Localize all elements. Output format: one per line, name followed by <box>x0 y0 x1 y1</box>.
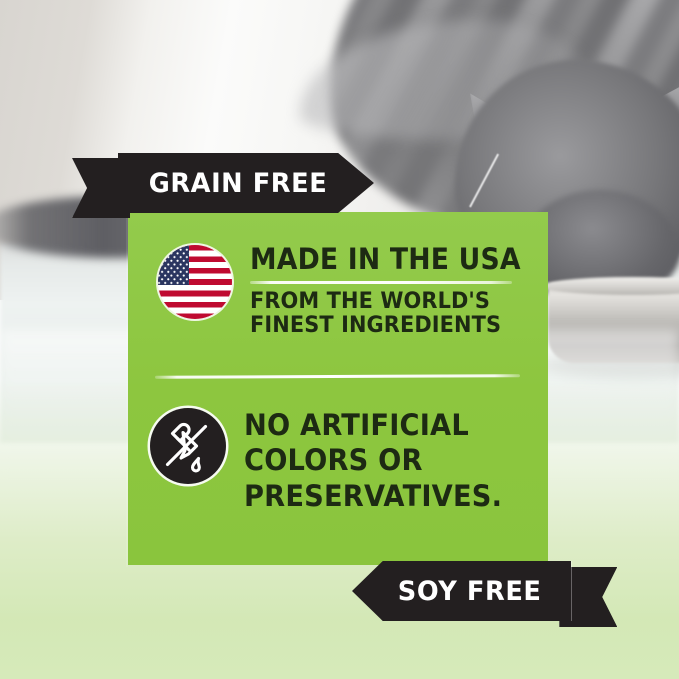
soy-free-label: SOY FREE <box>398 576 542 607</box>
headline-underline-rule <box>250 281 512 284</box>
advertisement-scene: MADE IN THE USA FROM THE WORLD'S FINEST … <box>0 0 679 679</box>
grain-free-label: GRAIN FREE <box>149 168 328 199</box>
grain-free-ribbon-body: GRAIN FREE <box>118 153 374 213</box>
grain-free-ribbon: GRAIN FREE <box>72 148 374 218</box>
no-artificial-line-1: NO ARTIFICIAL <box>244 408 502 443</box>
soy-free-ribbon-body: SOY FREE <box>352 561 571 621</box>
feature-text-no-artificial: NO ARTIFICIAL COLORS OR PRESERVATIVES. <box>244 408 519 514</box>
flag-stars <box>158 245 189 285</box>
green-panel-content: MADE IN THE USA FROM THE WORLD'S FINEST … <box>128 212 548 565</box>
feature-made-in-usa: MADE IN THE USA FROM THE WORLD'S FINEST … <box>158 245 544 338</box>
no-artificial-line-3: PRESERVATIVES. <box>244 479 502 514</box>
no-artificial-line-2: COLORS OR <box>244 443 502 478</box>
made-in-usa-subline-2: FINEST INGREDIENTS <box>250 314 530 338</box>
us-flag-circle-icon <box>158 245 232 319</box>
panel-divider <box>155 374 520 379</box>
made-in-usa-headline: MADE IN THE USA <box>250 245 521 274</box>
no-dropper-circle-icon <box>150 408 226 484</box>
feature-no-artificial: NO ARTIFICIAL COLORS OR PRESERVATIVES. <box>150 408 519 514</box>
feature-text-made-in-usa: MADE IN THE USA FROM THE WORLD'S FINEST … <box>250 245 544 338</box>
dropper-slash-svg <box>150 408 226 484</box>
made-in-usa-subline-1: FROM THE WORLD'S <box>250 290 530 314</box>
soy-free-ribbon: SOY FREE <box>352 555 617 627</box>
